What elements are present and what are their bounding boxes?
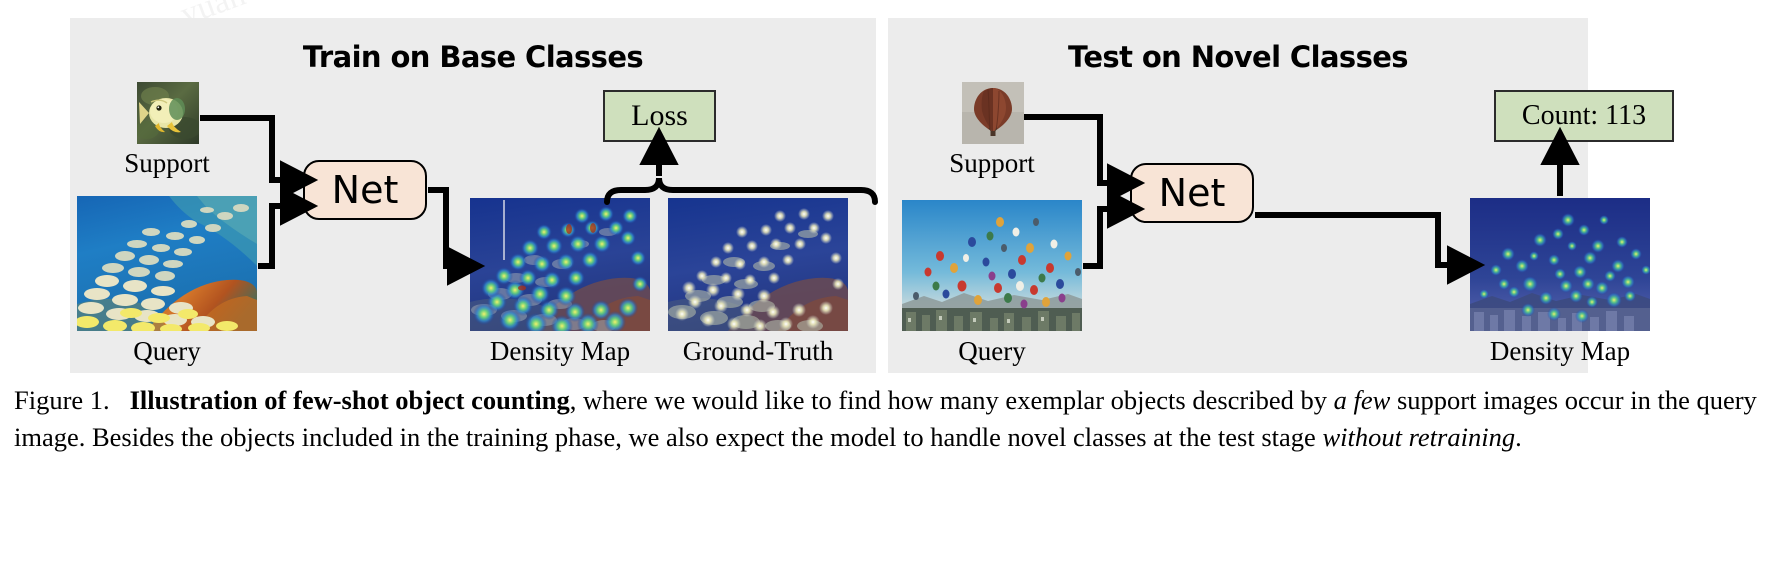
arrow-query-to-net-train: [258, 206, 293, 266]
figure-illustration: yuan 2022-09-11 2022-09-11 youzaiyuan 20…: [0, 0, 1776, 378]
connector-arrows-layer: [0, 0, 1776, 378]
arrow-net-to-density-test: [1255, 215, 1460, 265]
arrow-support-to-net-test: [1024, 117, 1120, 183]
bracket-density-groundtruth: [607, 178, 875, 202]
caption-figure-number: Figure 1.: [14, 385, 110, 415]
arrow-support-to-net-train: [200, 118, 293, 180]
caption-part3: .: [1515, 422, 1522, 452]
caption-bold-title: Illustration of few-shot object counting: [130, 385, 570, 415]
caption-italic-without-retraining: without retraining: [1322, 422, 1515, 452]
caption-italic-a-few: a few: [1334, 385, 1391, 415]
figure-caption: Figure 1. Illustration of few-shot objec…: [14, 382, 1766, 456]
arrow-net-to-density-train: [428, 190, 460, 266]
arrow-query-to-net-test: [1083, 209, 1120, 266]
caption-part1: , where we would like to find how many e…: [570, 385, 1334, 415]
